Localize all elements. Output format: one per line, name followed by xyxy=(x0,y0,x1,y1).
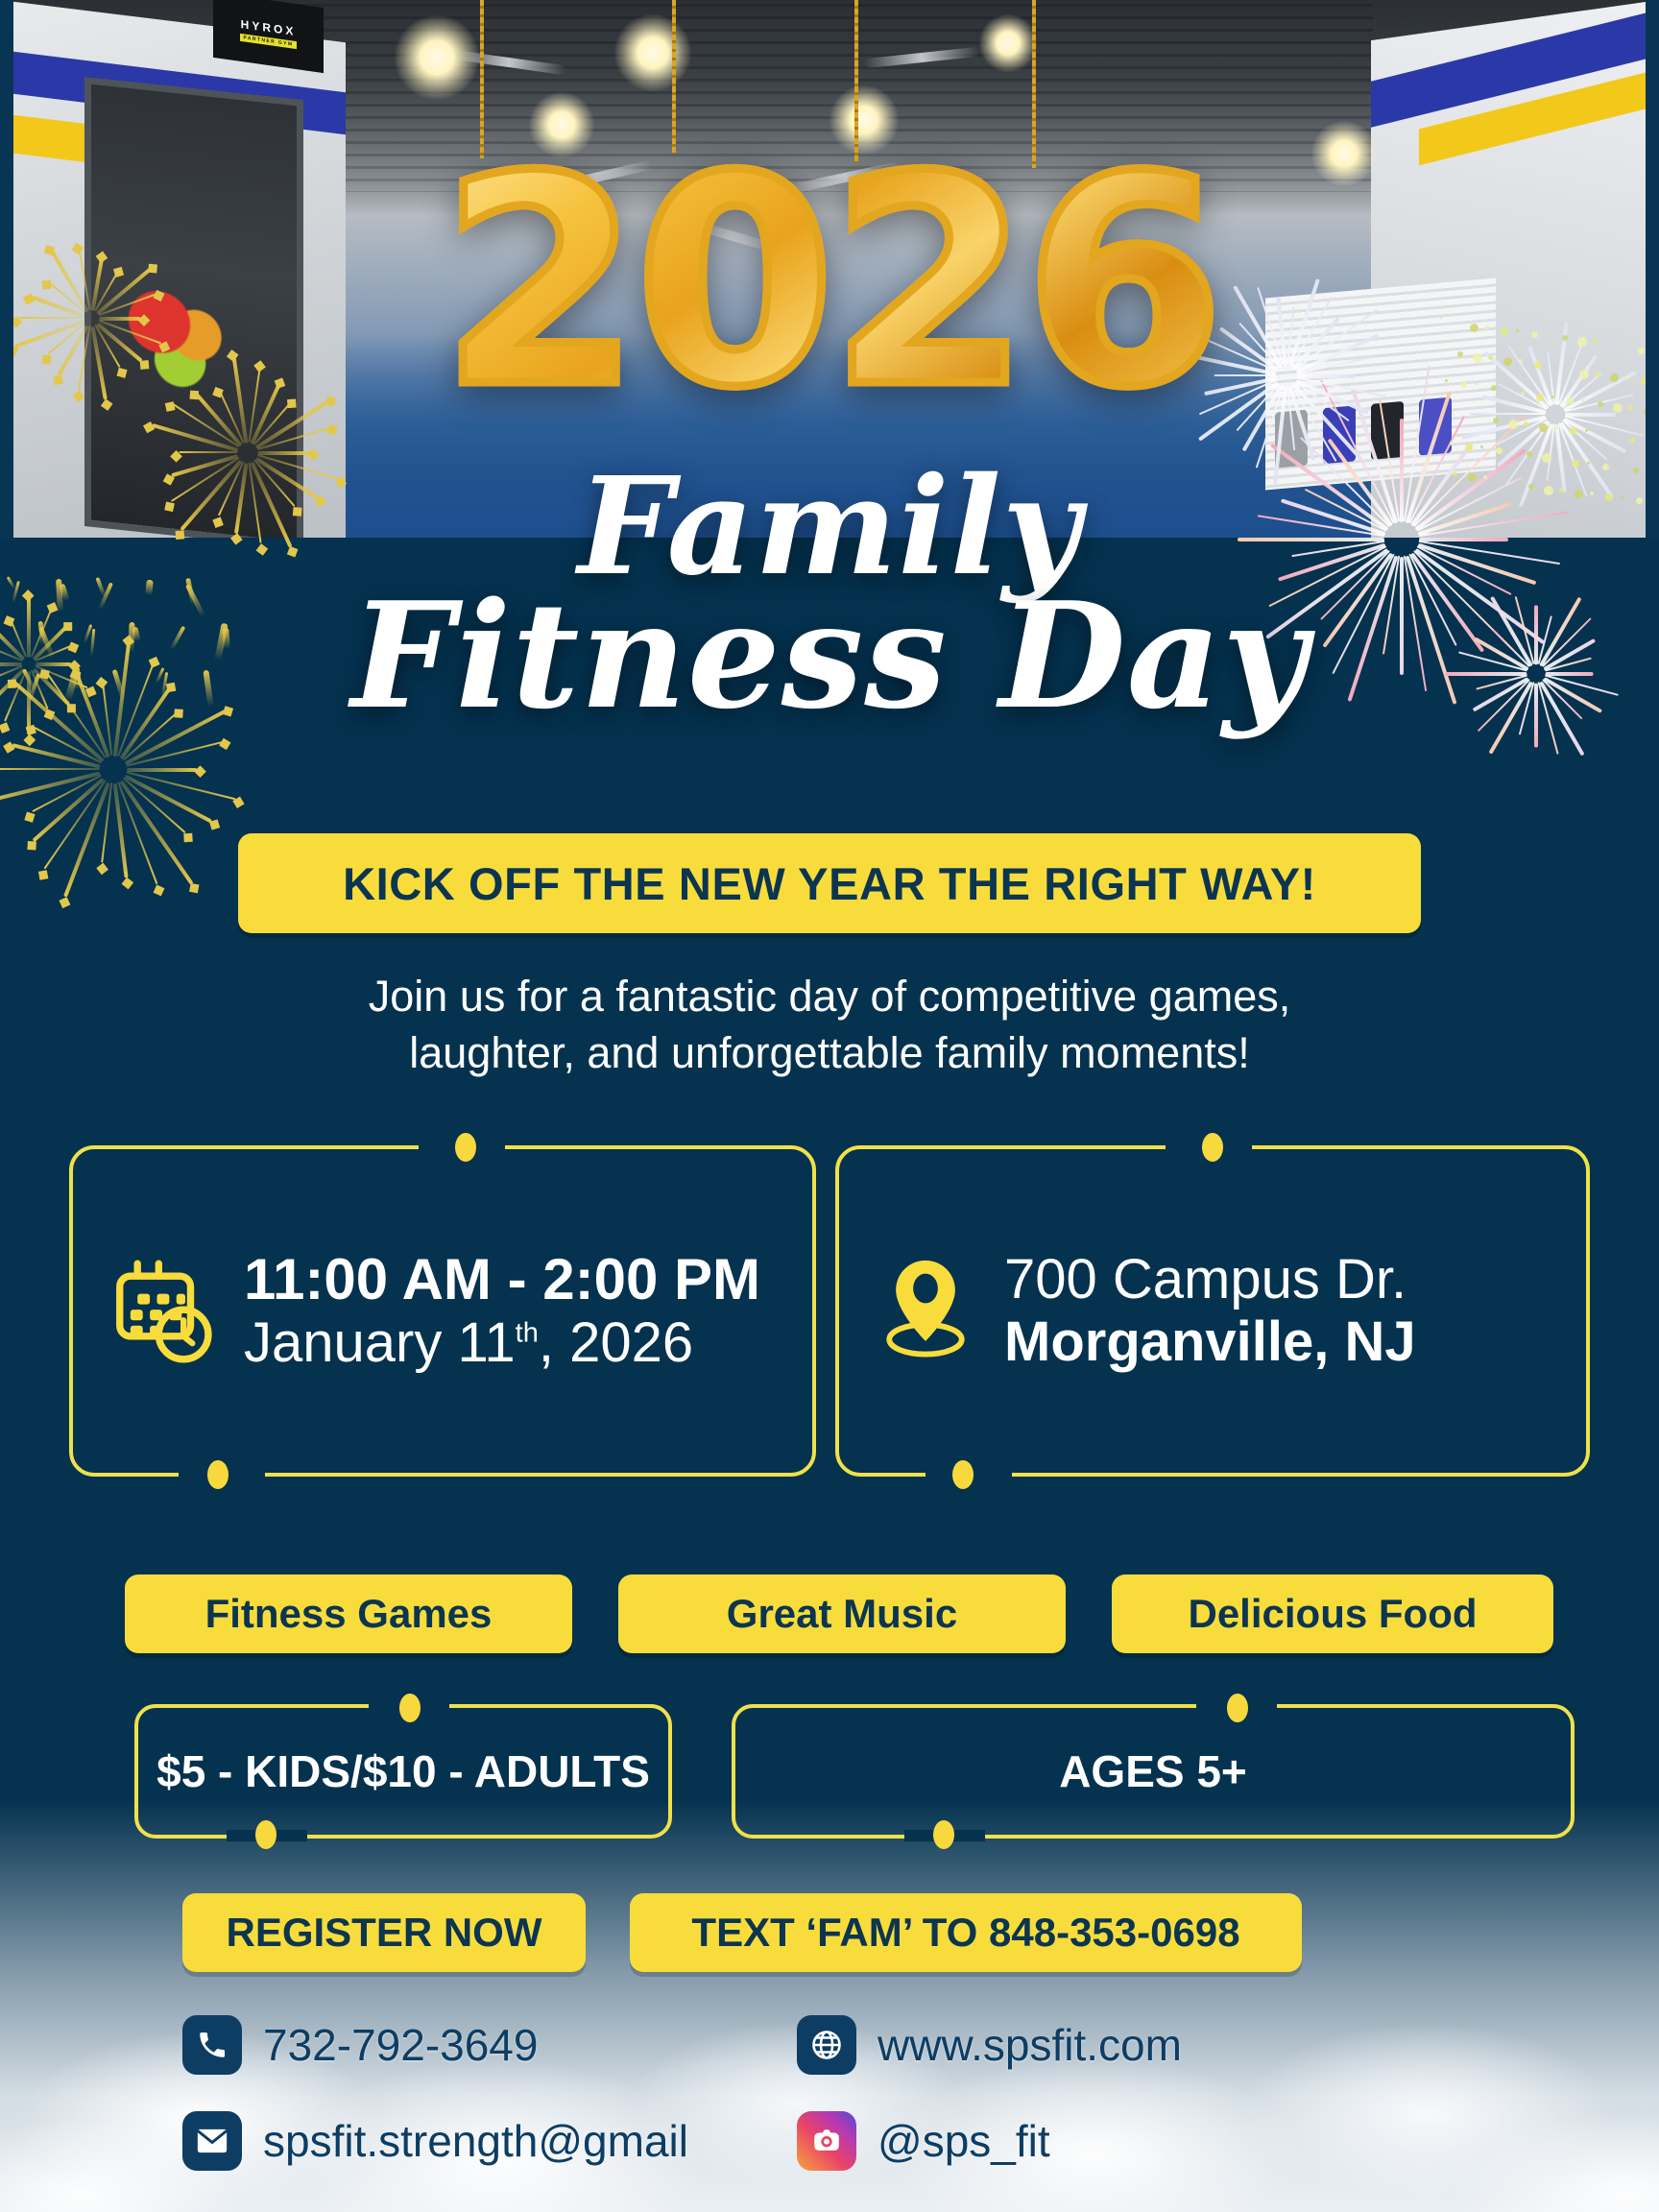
title-line-2: Fitness Day xyxy=(0,583,1659,729)
contact-grid: 732-792-3649 www.spsfit.com spsfit.stren… xyxy=(182,1997,1546,2189)
register-now-button[interactable]: REGISTER NOW xyxy=(182,1893,586,1972)
text-fam-label: TEXT ‘FAM’ TO 848-353-0698 xyxy=(691,1910,1239,1956)
globe-icon xyxy=(797,2015,856,2075)
cta-row: REGISTER NOW TEXT ‘FAM’ TO 848-353-0698 xyxy=(182,1893,1527,1972)
age-label: AGES 5+ xyxy=(1059,1745,1247,1797)
map-pin-icon xyxy=(872,1254,979,1369)
feature-pill-row: Fitness Games Great Music Delicious Food xyxy=(125,1575,1536,1653)
price-label: $5 - KIDS/$10 - ADULTS xyxy=(156,1745,650,1797)
age-frame: AGES 5+ xyxy=(732,1704,1575,1839)
event-time: 11:00 AM - 2:00 PM xyxy=(244,1247,760,1311)
datetime-text: 11:00 AM - 2:00 PM January 11th, 2026 xyxy=(244,1247,760,1374)
instagram-icon xyxy=(797,2111,856,2171)
poster-left-edge xyxy=(0,0,13,538)
contact-email-label: spsfit.strength@gmail xyxy=(263,2115,688,2167)
event-info-row: 11:00 AM - 2:00 PM January 11th, 2026 70… xyxy=(69,1145,1590,1477)
contact-instagram[interactable]: @sps_fit xyxy=(797,2093,1546,2189)
phone-icon xyxy=(182,2015,242,2075)
frame-border-dot-top xyxy=(455,1133,476,1162)
location-street: 700 Campus Dr. xyxy=(1004,1249,1416,1311)
location-text: 700 Campus Dr. Morganville, NJ xyxy=(1004,1249,1416,1374)
contact-website[interactable]: www.spsfit.com xyxy=(797,1997,1546,2093)
contact-phone-label: 732-792-3649 xyxy=(263,2019,538,2071)
calendar-clock-icon xyxy=(106,1254,219,1369)
frame-border-dot-bottom xyxy=(255,1820,276,1849)
event-date-monthday: January 11 xyxy=(244,1311,516,1374)
pricing-row: $5 - KIDS/$10 - ADULTS AGES 5+ xyxy=(134,1704,1575,1839)
event-date: January 11th, 2026 xyxy=(244,1312,760,1375)
datetime-frame: 11:00 AM - 2:00 PM January 11th, 2026 xyxy=(69,1145,816,1477)
feature-pill-label: Delicious Food xyxy=(1188,1591,1477,1637)
price-frame: $5 - KIDS/$10 - ADULTS xyxy=(134,1704,672,1839)
year-balloons: 2026 xyxy=(0,125,1659,442)
contact-instagram-label: @sps_fit xyxy=(878,2115,1050,2167)
frame-border-dot-top xyxy=(1202,1133,1223,1162)
frame-border-dot-bottom xyxy=(207,1460,228,1489)
frame-border-dot-top xyxy=(399,1694,421,1722)
feature-pill-label: Fitness Games xyxy=(205,1591,493,1637)
frame-border-dot-bottom xyxy=(952,1460,974,1489)
event-date-ordinal: th xyxy=(516,1317,539,1348)
register-now-label: REGISTER NOW xyxy=(226,1910,541,1956)
frame-border-dot-top xyxy=(1227,1694,1248,1722)
frame-border-dot-bottom xyxy=(933,1820,954,1849)
contact-website-label: www.spsfit.com xyxy=(878,2019,1182,2071)
balloon-year-text: 2026 xyxy=(441,159,1219,407)
envelope-icon xyxy=(182,2111,242,2171)
feature-pill-label: Great Music xyxy=(727,1591,957,1637)
location-city-state: Morganville, NJ xyxy=(1004,1311,1416,1374)
event-date-year: , 2026 xyxy=(539,1311,693,1374)
feature-pill-fitness-games: Fitness Games xyxy=(125,1575,572,1653)
contact-email[interactable]: spsfit.strength@gmail xyxy=(182,2093,797,2189)
text-fam-button[interactable]: TEXT ‘FAM’ TO 848-353-0698 xyxy=(630,1893,1302,1972)
feature-pill-great-music: Great Music xyxy=(618,1575,1066,1653)
page-title: Family Fitness Day xyxy=(0,459,1659,729)
feature-pill-delicious-food: Delicious Food xyxy=(1112,1575,1553,1653)
subheadline-line-2: laughter, and unforgettable family momen… xyxy=(0,1024,1659,1081)
location-frame: 700 Campus Dr. Morganville, NJ xyxy=(835,1145,1590,1477)
kicker-banner: KICK OFF THE NEW YEAR THE RIGHT WAY! xyxy=(238,833,1421,933)
flyer-poster: HYROX PARTNER GYM 2026 Family Fitness Da… xyxy=(0,0,1659,2212)
contact-phone[interactable]: 732-792-3649 xyxy=(182,1997,797,2093)
kicker-label: KICK OFF THE NEW YEAR THE RIGHT WAY! xyxy=(343,857,1316,910)
subheadline: Join us for a fantastic day of competiti… xyxy=(0,968,1659,1082)
subheadline-line-1: Join us for a fantastic day of competiti… xyxy=(0,968,1659,1024)
poster-right-edge xyxy=(1646,0,1659,538)
